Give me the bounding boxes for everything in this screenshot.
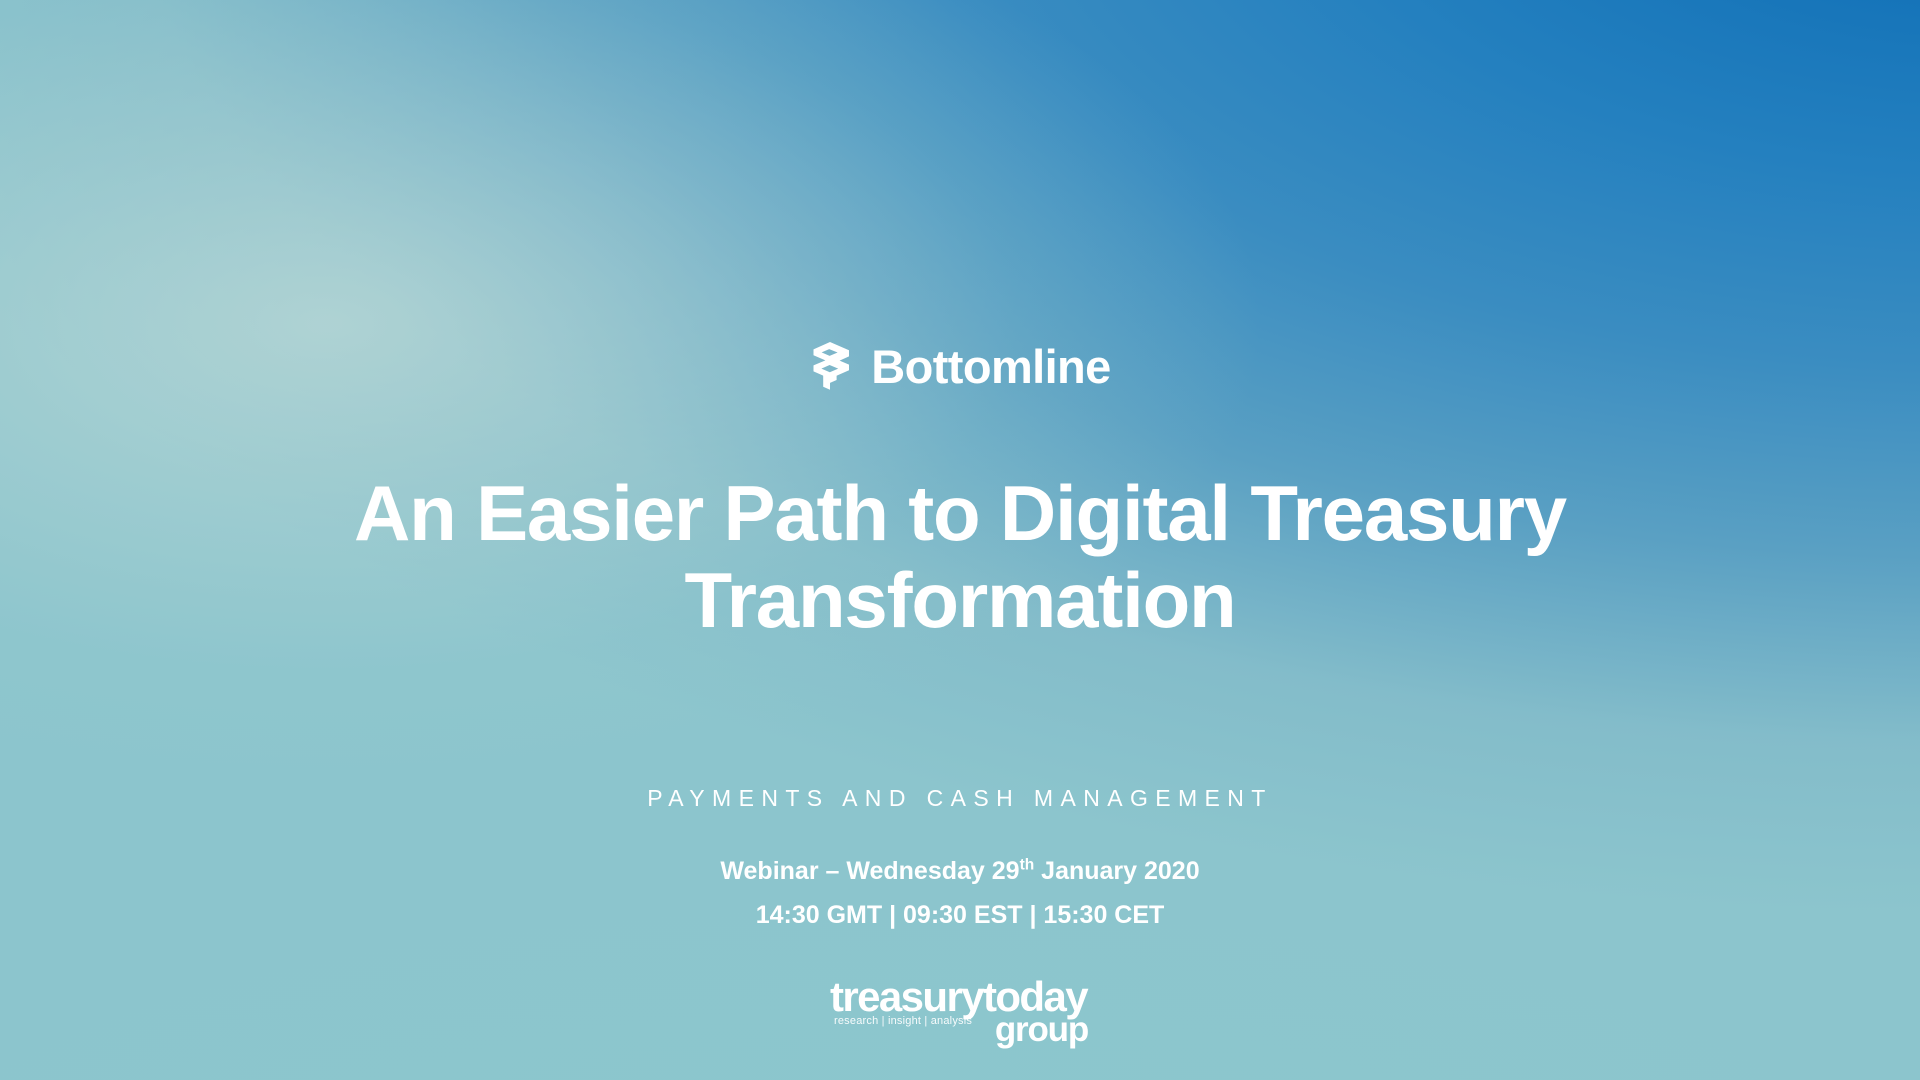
slide-title: An Easier Path to Digital Treasury Trans… (354, 470, 1566, 645)
event-details: Webinar – Wednesday 29th January 2020 14… (720, 856, 1199, 930)
event-date-suffix: January 2020 (1034, 857, 1199, 885)
slide-title-line-1: An Easier Path to Digital Treasury (354, 470, 1566, 557)
bottomline-logo: Bottomline (809, 338, 1110, 394)
event-date: Webinar – Wednesday 29th January 2020 (720, 856, 1199, 886)
event-times: 14:30 GMT | 09:30 EST | 15:30 CET (756, 900, 1165, 930)
bottomline-wordmark: Bottomline (871, 343, 1110, 390)
event-date-prefix: Webinar – Wednesday 29 (720, 857, 1019, 885)
slide-title-line-2: Transformation (354, 557, 1566, 644)
event-date-ordinal: th (1020, 857, 1035, 874)
bottomline-b-mark-icon (809, 341, 855, 391)
publisher-secondary-wordmark: group (995, 1012, 1088, 1047)
webinar-title-slide: Bottomline An Easier Path to Digital Tre… (0, 0, 1920, 1080)
slide-content: Bottomline An Easier Path to Digital Tre… (0, 0, 1920, 1080)
treasurytoday-group-logo: treasurytoday research | insight | analy… (830, 976, 1090, 1052)
publisher-strapline: research | insight | analysis (834, 1016, 972, 1027)
slide-subtitle: PAYMENTS AND CASH MANAGEMENT (647, 785, 1273, 812)
